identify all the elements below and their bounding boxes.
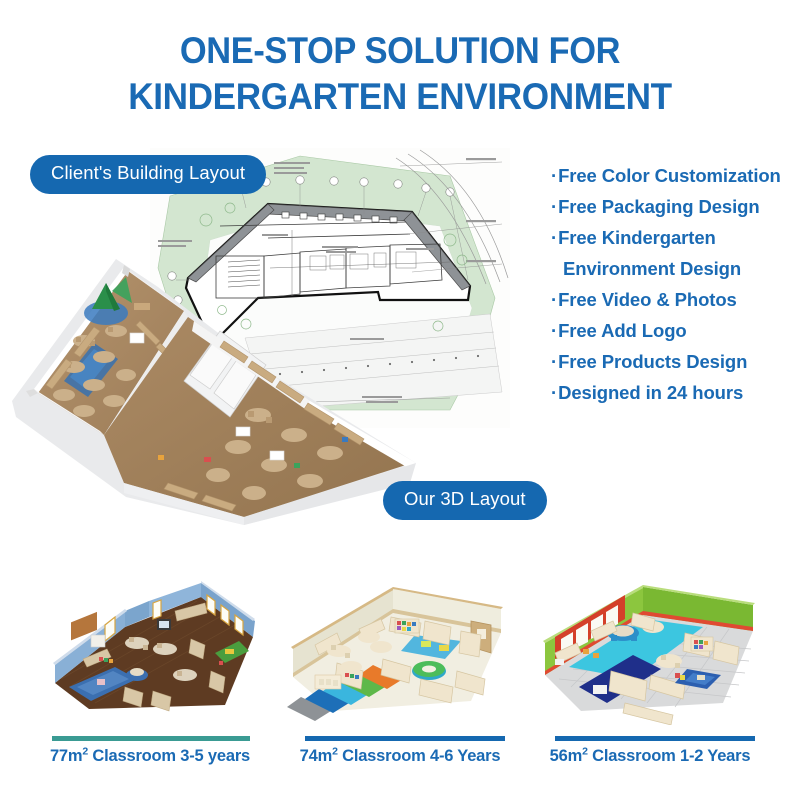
feature-label: Free Color Customization <box>558 165 781 186</box>
classroom-card-74m2[interactable]: 74m2 Classroom 4-6 Years <box>275 575 525 800</box>
classroom-caption-rest: Classroom 4-6 Years <box>338 747 501 765</box>
feature-label: Environment Design <box>563 258 741 279</box>
bullet-dot-icon: · <box>551 284 557 315</box>
classroom-caption-rest: Classroom 1-2 Years <box>588 747 751 765</box>
caption-accent-bar <box>305 736 505 741</box>
page-title-line-1: ONE-STOP SOLUTION FOR <box>28 28 772 74</box>
caption-accent-bar <box>52 736 250 741</box>
feature-item-free-video-and-photos: ·Free Video & Photos <box>551 284 799 315</box>
classroom-3-illustration <box>525 575 775 725</box>
feature-item-free-products-design: ·Free Products Design <box>551 346 799 377</box>
bullet-dot-icon: · <box>551 315 557 346</box>
bullet-dot-icon: · <box>551 346 557 377</box>
bullet-dot-icon: · <box>551 191 557 222</box>
classroom-cards-row: 77m2 Classroom 3-5 years <box>0 575 800 800</box>
caption-accent-bar <box>555 736 755 741</box>
feature-item-free-packaging-design: ·Free Packaging Design <box>551 191 799 222</box>
classroom-card-77m2[interactable]: 77m2 Classroom 3-5 years <box>25 575 275 800</box>
feature-label: Free Add Logo <box>558 320 687 341</box>
bullet-dot-icon: · <box>551 222 557 253</box>
feature-label: Free Kindergarten <box>558 227 716 248</box>
feature-item-designed-in-24-hours: ·Designed in 24 hours <box>551 377 799 408</box>
classroom-1-illustration <box>25 575 275 725</box>
feature-item-environment-design-continued: Environment Design <box>551 253 799 284</box>
classroom-caption-rest: Classroom 3-5 years <box>88 747 250 765</box>
classroom-2-illustration <box>275 575 525 725</box>
classroom-caption-2: 74m2 Classroom 4-6 Years <box>275 747 525 766</box>
feature-label: Free Video & Photos <box>558 289 737 310</box>
feature-item-free-color-customization: ·Free Color Customization <box>551 160 799 191</box>
classroom-render-1 <box>25 575 275 725</box>
promo-page: ONE-STOP SOLUTION FOR KINDERGARTEN ENVIR… <box>0 0 800 800</box>
feature-label: Designed in 24 hours <box>558 382 743 403</box>
classroom-area: 56m <box>550 747 582 765</box>
classroom-area: 74m <box>300 747 332 765</box>
badge-our-3d-layout[interactable]: Our 3D Layout <box>383 481 547 520</box>
classroom-card-56m2[interactable]: 56m2 Classroom 1-2 Years <box>525 575 775 800</box>
classroom-area: 77m <box>50 747 82 765</box>
classroom-render-3 <box>525 575 775 725</box>
feature-item-free-add-logo: ·Free Add Logo <box>551 315 799 346</box>
classroom-render-2 <box>275 575 525 725</box>
feature-label: Free Packaging Design <box>558 196 759 217</box>
bullet-dot-icon: · <box>551 377 557 408</box>
feature-benefits-list: ·Free Color Customization ·Free Packagin… <box>551 160 799 408</box>
feature-item-free-kindergarten-environment-design: ·Free Kindergarten <box>551 222 799 253</box>
badge-clients-building-layout[interactable]: Client's Building Layout <box>30 155 266 194</box>
feature-label: Free Products Design <box>558 351 747 372</box>
classroom-caption-1: 77m2 Classroom 3-5 years <box>25 747 275 766</box>
page-title-line-2: KINDERGARTEN ENVIRONMENT <box>20 74 780 120</box>
page-title: ONE-STOP SOLUTION FOR KINDERGARTEN ENVIR… <box>0 28 800 120</box>
bullet-dot-icon: · <box>551 160 557 191</box>
classroom-caption-3: 56m2 Classroom 1-2 Years <box>525 747 775 766</box>
